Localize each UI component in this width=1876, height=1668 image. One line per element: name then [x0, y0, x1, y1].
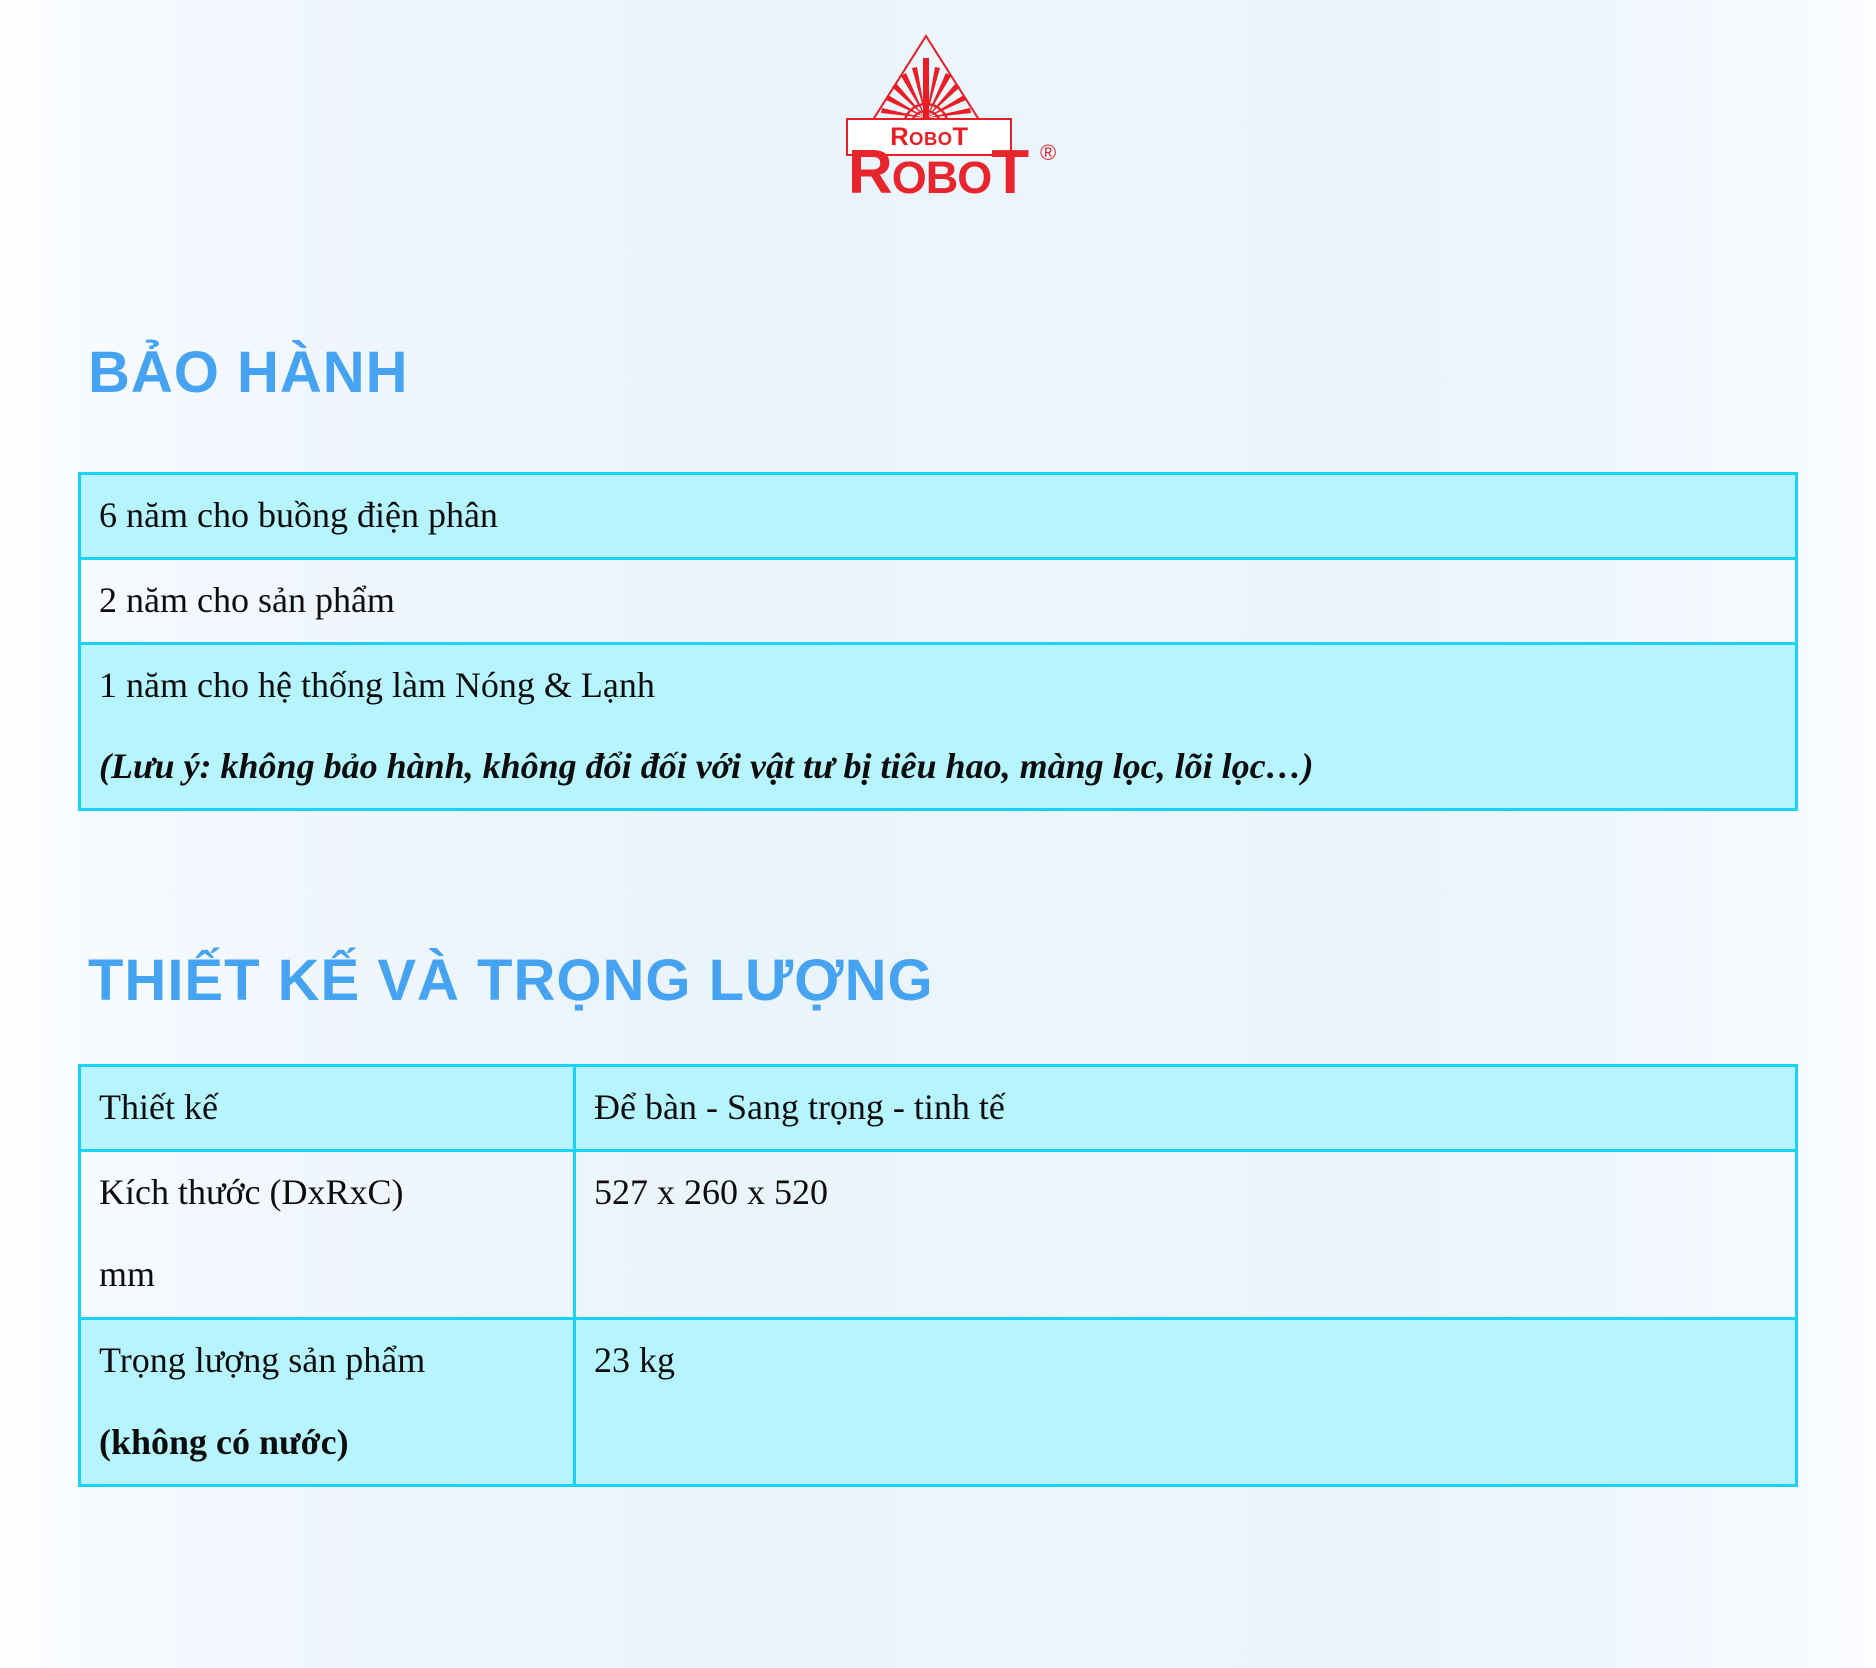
table-row: Thiết kế Để bàn - Sang trọng - tinh tế: [80, 1066, 1797, 1151]
dimensions-value-cell: 527 x 260 x 520: [575, 1151, 1797, 1318]
warranty-cell-electrolysis-chamber: 6 năm cho buồng điện phân: [80, 474, 1797, 559]
brand-logo: ROBOT ROBOT ®: [0, 34, 1876, 204]
table-row: Kích thước (DxRxC) mm 527 x 260 x 520: [80, 1151, 1797, 1318]
section-heading-warranty: BẢO HÀNH: [88, 344, 409, 402]
warranty-exclusion-note: (Lưu ý: không bảo hành, không đổi đối vớ…: [99, 740, 1777, 792]
dimensions-label-cell: Kích thước (DxRxC) mm: [80, 1151, 575, 1318]
weight-value-cell: 23 kg: [575, 1318, 1797, 1485]
design-weight-table: Thiết kế Để bàn - Sang trọng - tinh tế K…: [78, 1064, 1798, 1487]
dimensions-unit-label: mm: [99, 1248, 555, 1300]
design-label-cell: Thiết kế: [80, 1066, 575, 1151]
weight-label-cell: Trọng lượng sản phẩm (không có nước): [80, 1318, 575, 1485]
section-heading-design-weight: THIẾT KẾ VÀ TRỌNG LƯỢNG: [88, 952, 934, 1010]
warranty-table: 6 năm cho buồng điện phân 2 năm cho sản …: [78, 472, 1798, 811]
table-row: Trọng lượng sản phẩm (không có nước) 23 …: [80, 1318, 1797, 1485]
weight-condition-label: (không có nước): [99, 1416, 555, 1468]
design-value-cell: Để bàn - Sang trọng - tinh tế: [575, 1066, 1797, 1151]
table-row: 1 năm cho hệ thống làm Nóng & Lạnh (Lưu …: [80, 644, 1797, 809]
table-row: 2 năm cho sản phẩm: [80, 559, 1797, 644]
warranty-cell-hot-cold-system: 1 năm cho hệ thống làm Nóng & Lạnh (Lưu …: [80, 644, 1797, 809]
registered-trademark-icon: ®: [1040, 142, 1056, 164]
logo-wordmark: ROBOT: [768, 142, 1108, 204]
warranty-cell-product: 2 năm cho sản phẩm: [80, 559, 1797, 644]
table-row: 6 năm cho buồng điện phân: [80, 474, 1797, 559]
